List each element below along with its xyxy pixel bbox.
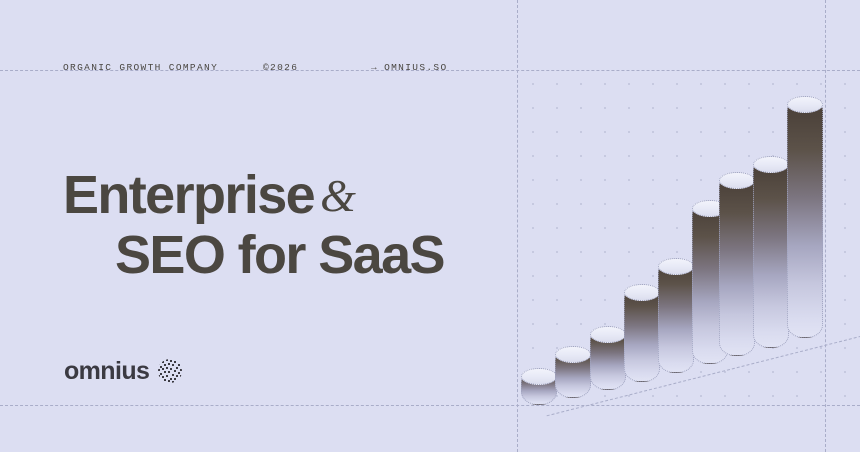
ampersand-glyph: & (320, 170, 356, 221)
chart-bar (555, 346, 591, 398)
dotted-sphere-icon (157, 358, 183, 384)
chart-bar (787, 96, 823, 338)
poster-canvas: ORGANIC GROWTH COMPANY ©2026 → OMNIUS.SO… (0, 0, 860, 452)
chart-bar (753, 156, 789, 348)
website-link[interactable]: → OMNIUS.SO (371, 62, 448, 73)
brand-logo[interactable]: omnius (64, 358, 183, 384)
chart-bar (658, 258, 694, 373)
chart-bar (719, 172, 755, 356)
arrow-right-icon: → (371, 62, 378, 73)
website-label: OMNIUS.SO (384, 62, 447, 73)
logo-wordmark: omnius (64, 359, 149, 384)
company-label: ORGANIC GROWTH COMPANY (63, 62, 263, 73)
page-title: Enterprise& SEO for SaaS (63, 165, 444, 286)
headline-line-2: SEO for SaaS (63, 225, 444, 285)
copyright-label: ©2026 (263, 62, 371, 73)
headline-line-1: Enterprise& (63, 165, 444, 225)
chart-bar (590, 326, 626, 390)
headline-text-1: Enterprise (63, 165, 314, 225)
chart-bar (624, 284, 660, 382)
header-meta-row: ORGANIC GROWTH COMPANY ©2026 → OMNIUS.SO (63, 62, 448, 73)
chart-bar (521, 368, 557, 405)
